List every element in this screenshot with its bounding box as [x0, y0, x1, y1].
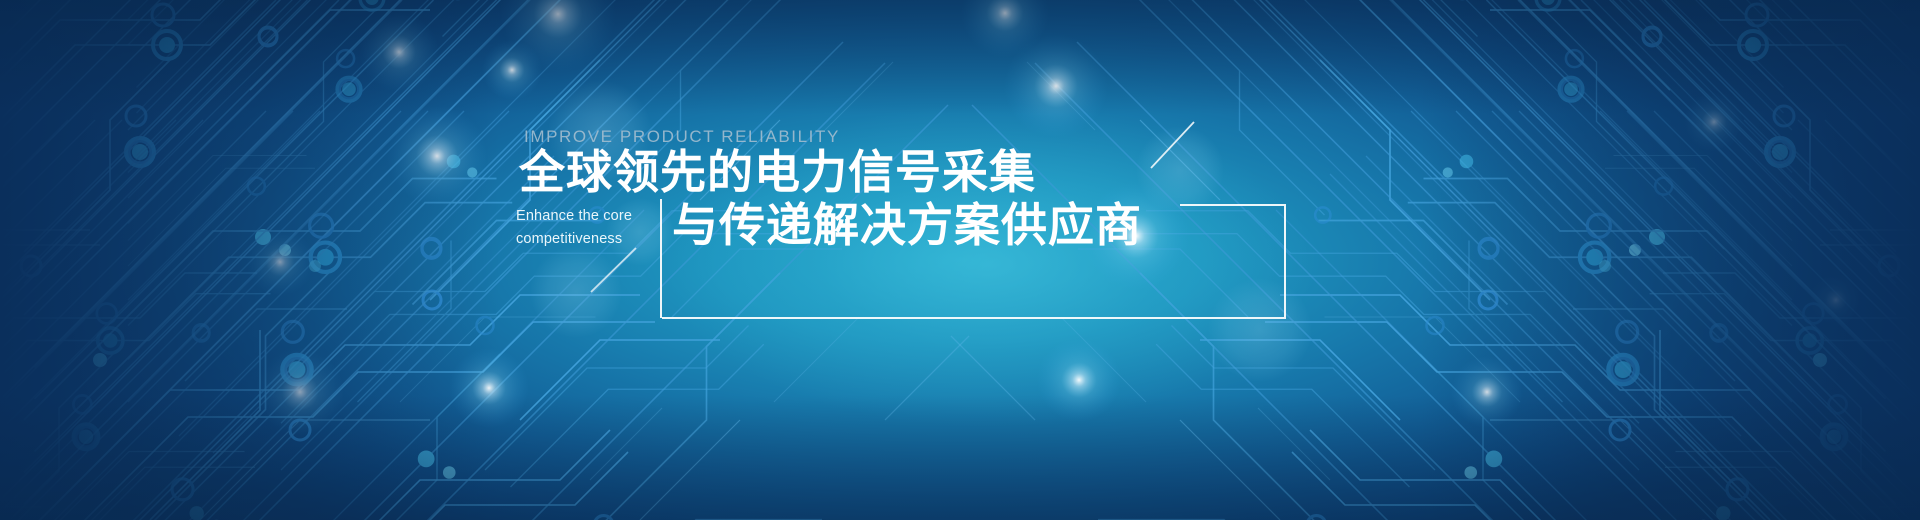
banner-subtitle: Enhance the core competitiveness [516, 205, 656, 252]
banner-eyebrow: IMPROVE PRODUCT RELIABILITY [524, 127, 840, 147]
banner-headline-line1: 全球领先的电力信号采集 [519, 146, 1036, 199]
banner-headline-line2: 与传递解决方案供应商 [672, 199, 1142, 252]
banner-subtitle-line1: Enhance the core [516, 205, 656, 228]
hero-banner: IMPROVE PRODUCT RELIABILITY 全球领先的电力信号采集 … [0, 0, 1920, 520]
banner-content: IMPROVE PRODUCT RELIABILITY 全球领先的电力信号采集 … [0, 0, 1920, 520]
banner-subtitle-line2: competitiveness [516, 228, 656, 251]
